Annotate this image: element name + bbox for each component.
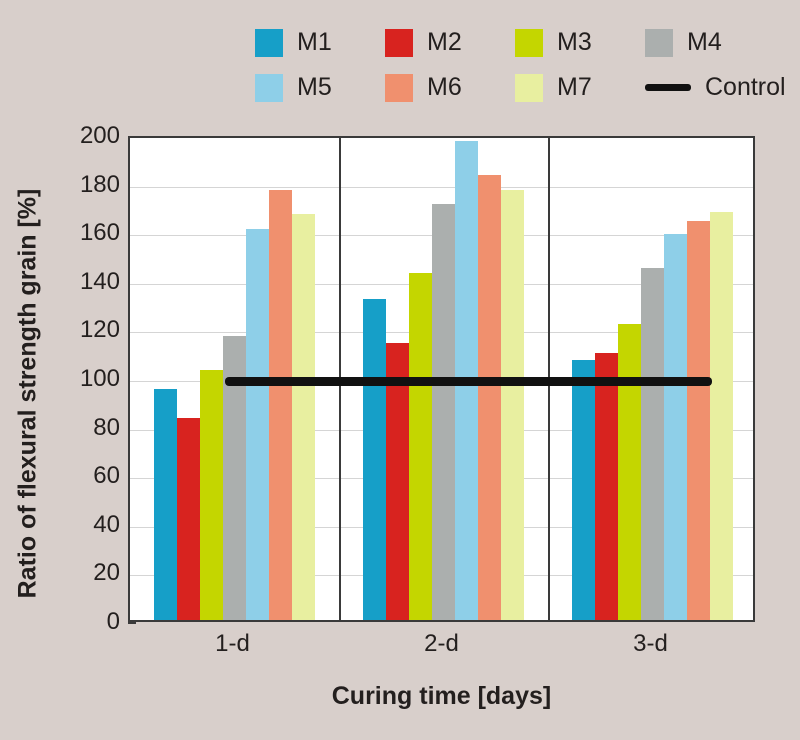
legend-item-label: M6 (427, 75, 462, 100)
y-tick-label: 100 (58, 367, 120, 391)
x-tick-label-1-d: 1-d (173, 632, 293, 656)
legend-swatch-icon (645, 29, 673, 57)
y-tick-label: 200 (58, 124, 120, 148)
y-axis-title: Ratio of flexural strength grain [%] (14, 144, 43, 644)
bar-m2-1-d[interactable] (177, 418, 200, 620)
y-tick-label: 20 (58, 561, 120, 585)
bar-m4-2-d[interactable] (432, 204, 455, 620)
legend-swatch-icon (385, 74, 413, 102)
y-tick-label: 180 (58, 173, 120, 197)
bar-m1-2-d[interactable] (363, 299, 386, 620)
chart-legend: M1M2M3M4M5M6M7Control (255, 20, 775, 110)
control-reference-line (225, 377, 712, 386)
x-tick-label-3-d: 3-d (591, 632, 711, 656)
x-tick-label-2-d: 2-d (382, 632, 502, 656)
legend-item-m5[interactable]: M5 (255, 65, 385, 110)
bar-m3-2-d[interactable] (409, 273, 432, 620)
y-tick-label: 80 (58, 416, 120, 440)
legend-swatch-icon (255, 29, 283, 57)
bar-m6-1-d[interactable] (269, 190, 292, 620)
bar-m7-1-d[interactable] (292, 214, 315, 620)
legend-item-label: M4 (687, 30, 722, 55)
legend-item-label: M5 (297, 75, 332, 100)
y-tick-label: 120 (58, 318, 120, 342)
legend-swatch-icon (515, 29, 543, 57)
bar-m3-1-d[interactable] (200, 370, 223, 620)
legend-item-label: Control (705, 75, 786, 100)
bar-m1-3-d[interactable] (572, 360, 595, 620)
bar-m6-2-d[interactable] (478, 175, 501, 620)
bar-m5-3-d[interactable] (664, 234, 687, 620)
y-tick-mark (128, 622, 136, 624)
bar-m5-1-d[interactable] (246, 229, 269, 620)
legend-line-marker-icon (645, 84, 691, 91)
legend-swatch-icon (515, 74, 543, 102)
legend-item-m2[interactable]: M2 (385, 20, 515, 65)
legend-item-control[interactable]: Control (645, 65, 775, 110)
y-tick-label: 140 (58, 270, 120, 294)
y-tick-label: 40 (58, 513, 120, 537)
legend-item-m3[interactable]: M3 (515, 20, 645, 65)
bar-m1-1-d[interactable] (154, 389, 177, 620)
legend-item-label: M7 (557, 75, 592, 100)
y-axis-tick-labels: 020406080100120140160180200 (48, 136, 120, 622)
y-tick-label: 160 (58, 221, 120, 245)
y-tick-label: 0 (58, 610, 120, 634)
legend-item-label: M3 (557, 30, 592, 55)
bar-m4-3-d[interactable] (641, 268, 664, 620)
y-tick-label: 60 (58, 464, 120, 488)
x-axis-title: Curing time [days] (128, 682, 755, 711)
legend-item-m4[interactable]: M4 (645, 20, 775, 65)
legend-item-m1[interactable]: M1 (255, 20, 385, 65)
bar-m2-3-d[interactable] (595, 353, 618, 620)
legend-item-m6[interactable]: M6 (385, 65, 515, 110)
bar-m3-3-d[interactable] (618, 324, 641, 620)
legend-swatch-icon (255, 74, 283, 102)
bar-m6-3-d[interactable] (687, 221, 710, 620)
bar-m7-2-d[interactable] (501, 190, 524, 620)
legend-swatch-icon (385, 29, 413, 57)
legend-item-label: M1 (297, 30, 332, 55)
legend-item-label: M2 (427, 30, 462, 55)
plot-area (128, 136, 755, 622)
x-axis-tick-labels: 1-d2-d3-d (128, 632, 755, 668)
bar-m7-3-d[interactable] (710, 212, 733, 620)
legend-item-m7[interactable]: M7 (515, 65, 645, 110)
